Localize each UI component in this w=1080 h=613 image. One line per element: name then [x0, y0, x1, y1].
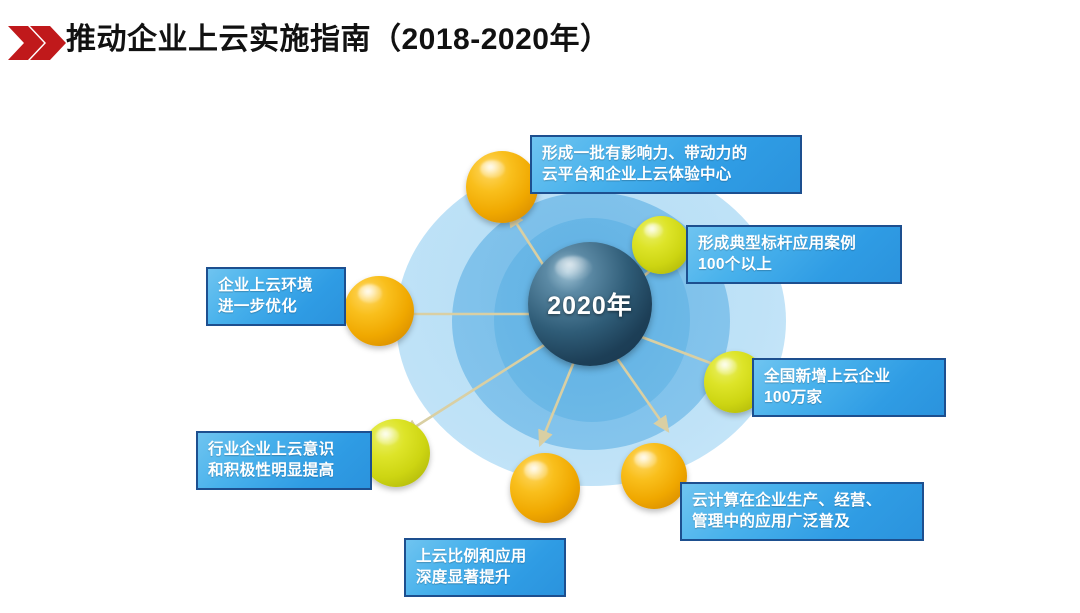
sphere-highlight: [644, 223, 664, 238]
sphere-node-cloud-computing-adoption[interactable]: [621, 443, 687, 509]
callout-node-industry-awareness[interactable]: 行业企业上云意识 和积极性明显提高: [196, 431, 372, 490]
sphere-highlight: [376, 427, 399, 445]
center-year-label: 2020年: [528, 242, 652, 366]
sphere-highlight: [634, 451, 656, 468]
sphere-node-cloud-ratio-depth[interactable]: [510, 453, 580, 523]
sphere-highlight: [716, 358, 737, 374]
sphere-node-industry-awareness[interactable]: [362, 419, 430, 487]
sphere-highlight: [358, 284, 382, 302]
center-sphere: 2020年: [528, 242, 652, 366]
sphere-highlight: [480, 160, 504, 179]
callout-node-benchmark-cases[interactable]: 形成典型标杆应用案例 100个以上: [686, 225, 902, 284]
callout-node-new-cloud-enterprises[interactable]: 全国新增上云企业 100万家: [752, 358, 946, 417]
callout-node-cloud-ratio-depth[interactable]: 上云比例和应用 深度显著提升: [404, 538, 566, 597]
sphere-node-cloud-platform-centers[interactable]: [466, 151, 538, 223]
slide-canvas: 推动企业上云实施指南（2018-2020年） 2020年 形成一批有影响力、带动…: [0, 0, 1080, 613]
sphere-highlight: [524, 461, 548, 479]
callout-node-cloud-computing-adoption[interactable]: 云计算在企业生产、经营、 管理中的应用广泛普及: [680, 482, 924, 541]
callout-node-cloud-platform-centers[interactable]: 形成一批有影响力、带动力的 云平台和企业上云体验中心: [530, 135, 802, 194]
page-title: 推动企业上云实施指南（2018-2020年）: [66, 16, 610, 64]
callout-node-environment-optimized[interactable]: 企业上云环境 进一步优化: [206, 267, 346, 326]
cloud-goals-diagram: 2020年 形成一批有影响力、带动力的 云平台和企业上云体验中心形成典型标杆应用…: [0, 60, 1080, 613]
sphere-node-environment-optimized[interactable]: [344, 276, 414, 346]
chevron-double-right-icon: [8, 24, 66, 62]
